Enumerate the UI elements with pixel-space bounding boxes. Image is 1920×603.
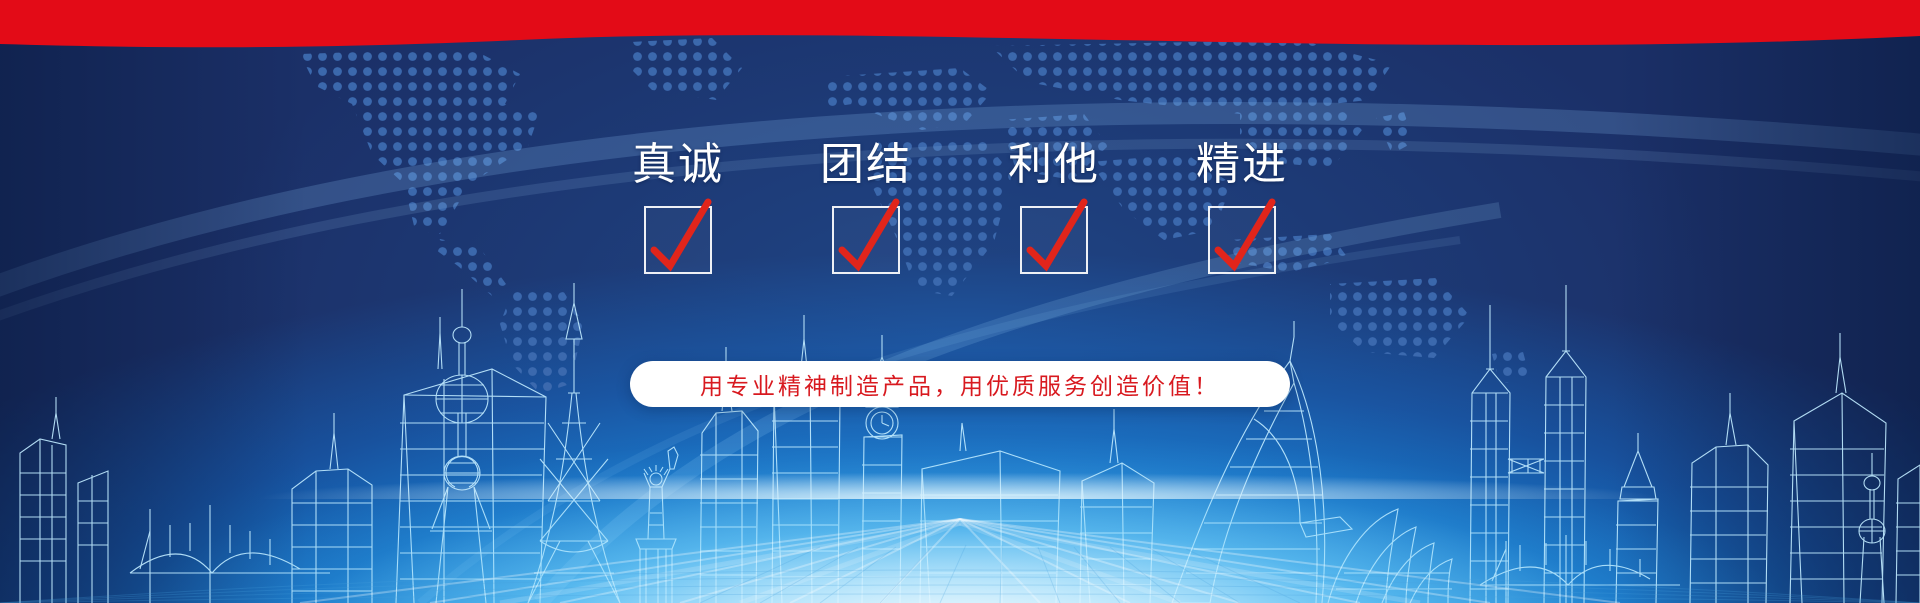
value-item-lita: 利他 xyxy=(983,138,1125,274)
checkmark-icon xyxy=(1016,192,1096,280)
top-red-band xyxy=(0,0,1920,70)
value-item-jingjin: 精进 xyxy=(1171,138,1313,274)
corporate-values-banner: 真诚 团结 利他 xyxy=(0,0,1920,603)
value-label: 利他 xyxy=(1008,138,1100,192)
checkmark-icon xyxy=(828,192,908,280)
value-label: 精进 xyxy=(1196,138,1288,192)
value-label: 真诚 xyxy=(632,138,724,192)
checkmark-icon xyxy=(1204,192,1284,280)
value-item-tuanjie: 团结 xyxy=(795,138,937,274)
value-checkbox[interactable] xyxy=(644,206,712,274)
value-checkbox[interactable] xyxy=(1208,206,1276,274)
values-list: 真诚 团结 利他 xyxy=(0,138,1920,274)
value-checkbox[interactable] xyxy=(832,206,900,274)
value-label: 团结 xyxy=(820,138,912,192)
checkmark-icon xyxy=(640,192,720,280)
background-edge-shading xyxy=(0,0,1920,603)
slogan-pill: 用专业精神制造产品，用优质服务创造价值！ xyxy=(630,361,1290,407)
value-checkbox[interactable] xyxy=(1020,206,1088,274)
value-item-zhencheng: 真诚 xyxy=(607,138,749,274)
slogan-text: 用专业精神制造产品，用优质服务创造价值！ xyxy=(700,367,1220,401)
